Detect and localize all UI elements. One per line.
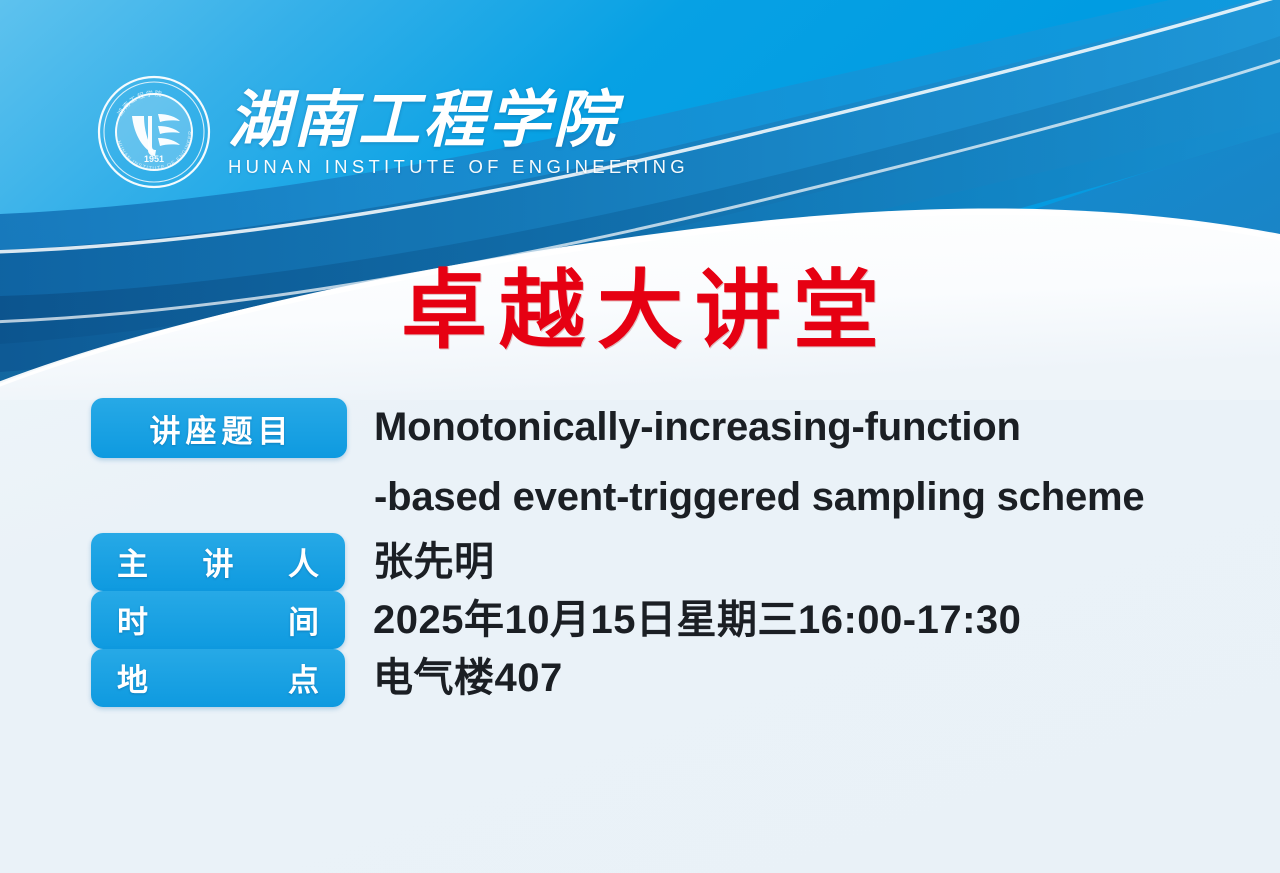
label-lecture-title: 讲座题目 <box>91 398 347 458</box>
label-place: 地 点 <box>91 649 345 707</box>
page-title: 卓越大讲堂 <box>0 268 1280 354</box>
row-lecture-title: 讲座题目 Monotonically-increasing-function -… <box>0 398 1280 533</box>
lecture-title-line-2: -based event-triggered sampling scheme <box>374 462 1280 532</box>
info-rows: 讲座题目 Monotonically-increasing-function -… <box>0 398 1280 707</box>
university-logo: 1951 湖南工程学院 HUNAN INSTITUTE OF ENGINEERI… <box>96 74 689 190</box>
label-time: 时 间 <box>91 591 345 649</box>
label-place-char-1: 地 <box>117 655 148 700</box>
label-time-char-1: 时 <box>117 597 148 642</box>
institution-name-en: HUNAN INSTITUTE OF ENGINEERING <box>228 156 689 178</box>
university-seal-icon: 1951 湖南工程学院 HUNAN INSTITUTE OF ENGINEERI… <box>96 74 212 190</box>
lecture-poster: 1951 湖南工程学院 HUNAN INSTITUTE OF ENGINEERI… <box>0 0 1280 873</box>
label-speaker-char-3: 人 <box>288 539 319 584</box>
row-place: 地 点 电气楼407 <box>0 649 1280 707</box>
row-speaker: 主 讲 人 张先明 <box>0 533 1280 591</box>
label-speaker-char-1: 主 <box>117 539 148 584</box>
value-speaker: 张先明 <box>373 533 1280 591</box>
value-time: 2025年10月15日星期三16:00-17:30 <box>373 591 1280 649</box>
label-speaker: 主 讲 人 <box>91 533 345 591</box>
label-speaker-char-2: 讲 <box>203 539 234 584</box>
row-time: 时 间 2025年10月15日星期三16:00-17:30 <box>0 591 1280 649</box>
svg-text:1951: 1951 <box>144 154 164 164</box>
value-lecture-title: Monotonically-increasing-function -based… <box>374 392 1280 533</box>
value-place: 电气楼407 <box>373 649 1280 707</box>
wordmark: 湖南工程学院 HUNAN INSTITUTE OF ENGINEERING <box>228 86 689 177</box>
lecture-title-line-1: Monotonically-increasing-function <box>374 392 1280 462</box>
label-time-char-2: 间 <box>288 597 319 642</box>
institution-name-cn: 湖南工程学院 <box>228 90 689 153</box>
label-place-char-2: 点 <box>288 655 319 700</box>
